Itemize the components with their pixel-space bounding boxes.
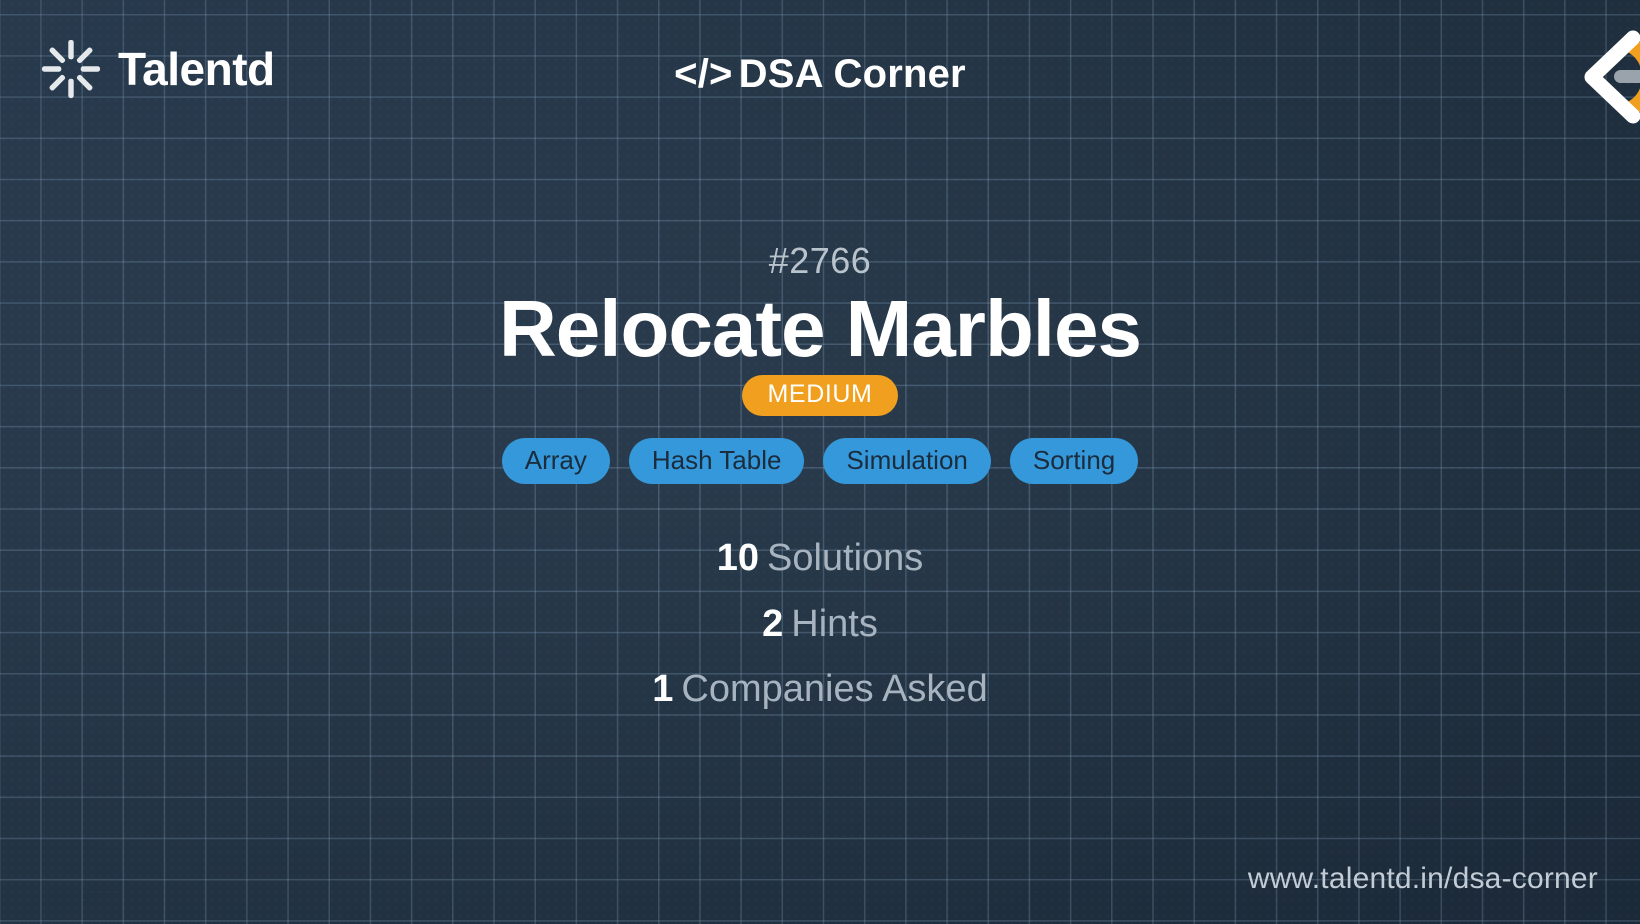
difficulty-badge: MEDIUM bbox=[742, 375, 899, 416]
stat-row: 10Solutions bbox=[0, 526, 1640, 591]
stat-label: Companies Asked bbox=[681, 668, 987, 710]
chevron-c-logo-icon bbox=[1536, 22, 1640, 132]
stat-value: 1 bbox=[652, 668, 673, 710]
stat-value: 2 bbox=[762, 603, 783, 645]
page-title-text: DSA Corner bbox=[739, 52, 966, 96]
stat-row: 2Hints bbox=[0, 592, 1640, 657]
problem-title: Relocate Marbles bbox=[0, 287, 1640, 371]
page-title: </>DSA Corner bbox=[0, 52, 1640, 97]
stat-value: 10 bbox=[717, 537, 759, 579]
stat-label: Solutions bbox=[767, 537, 923, 579]
stat-row: 1Companies Asked bbox=[0, 657, 1640, 722]
problem-card: #2766 Relocate Marbles MEDIUM Array Hash… bbox=[0, 240, 1640, 722]
tag-pill[interactable]: Array bbox=[502, 438, 610, 484]
poster-canvas: Talentd </>DSA Corner #2766 Relocate Mar… bbox=[0, 0, 1640, 924]
stat-label: Hints bbox=[791, 603, 878, 645]
problem-number: #2766 bbox=[0, 240, 1640, 281]
footer-url: www.talentd.in/dsa-corner bbox=[1248, 862, 1598, 896]
difficulty-row: MEDIUM bbox=[0, 375, 1640, 416]
stats-list: 10Solutions 2Hints 1Companies Asked bbox=[0, 526, 1640, 722]
tag-list: Array Hash Table Simulation Sorting bbox=[0, 438, 1640, 484]
poster-content: Talentd </>DSA Corner #2766 Relocate Mar… bbox=[0, 0, 1640, 924]
tag-pill[interactable]: Sorting bbox=[1010, 438, 1138, 484]
tag-pill[interactable]: Hash Table bbox=[629, 438, 805, 484]
code-tag-icon: </> bbox=[674, 52, 732, 96]
tag-pill[interactable]: Simulation bbox=[823, 438, 990, 484]
